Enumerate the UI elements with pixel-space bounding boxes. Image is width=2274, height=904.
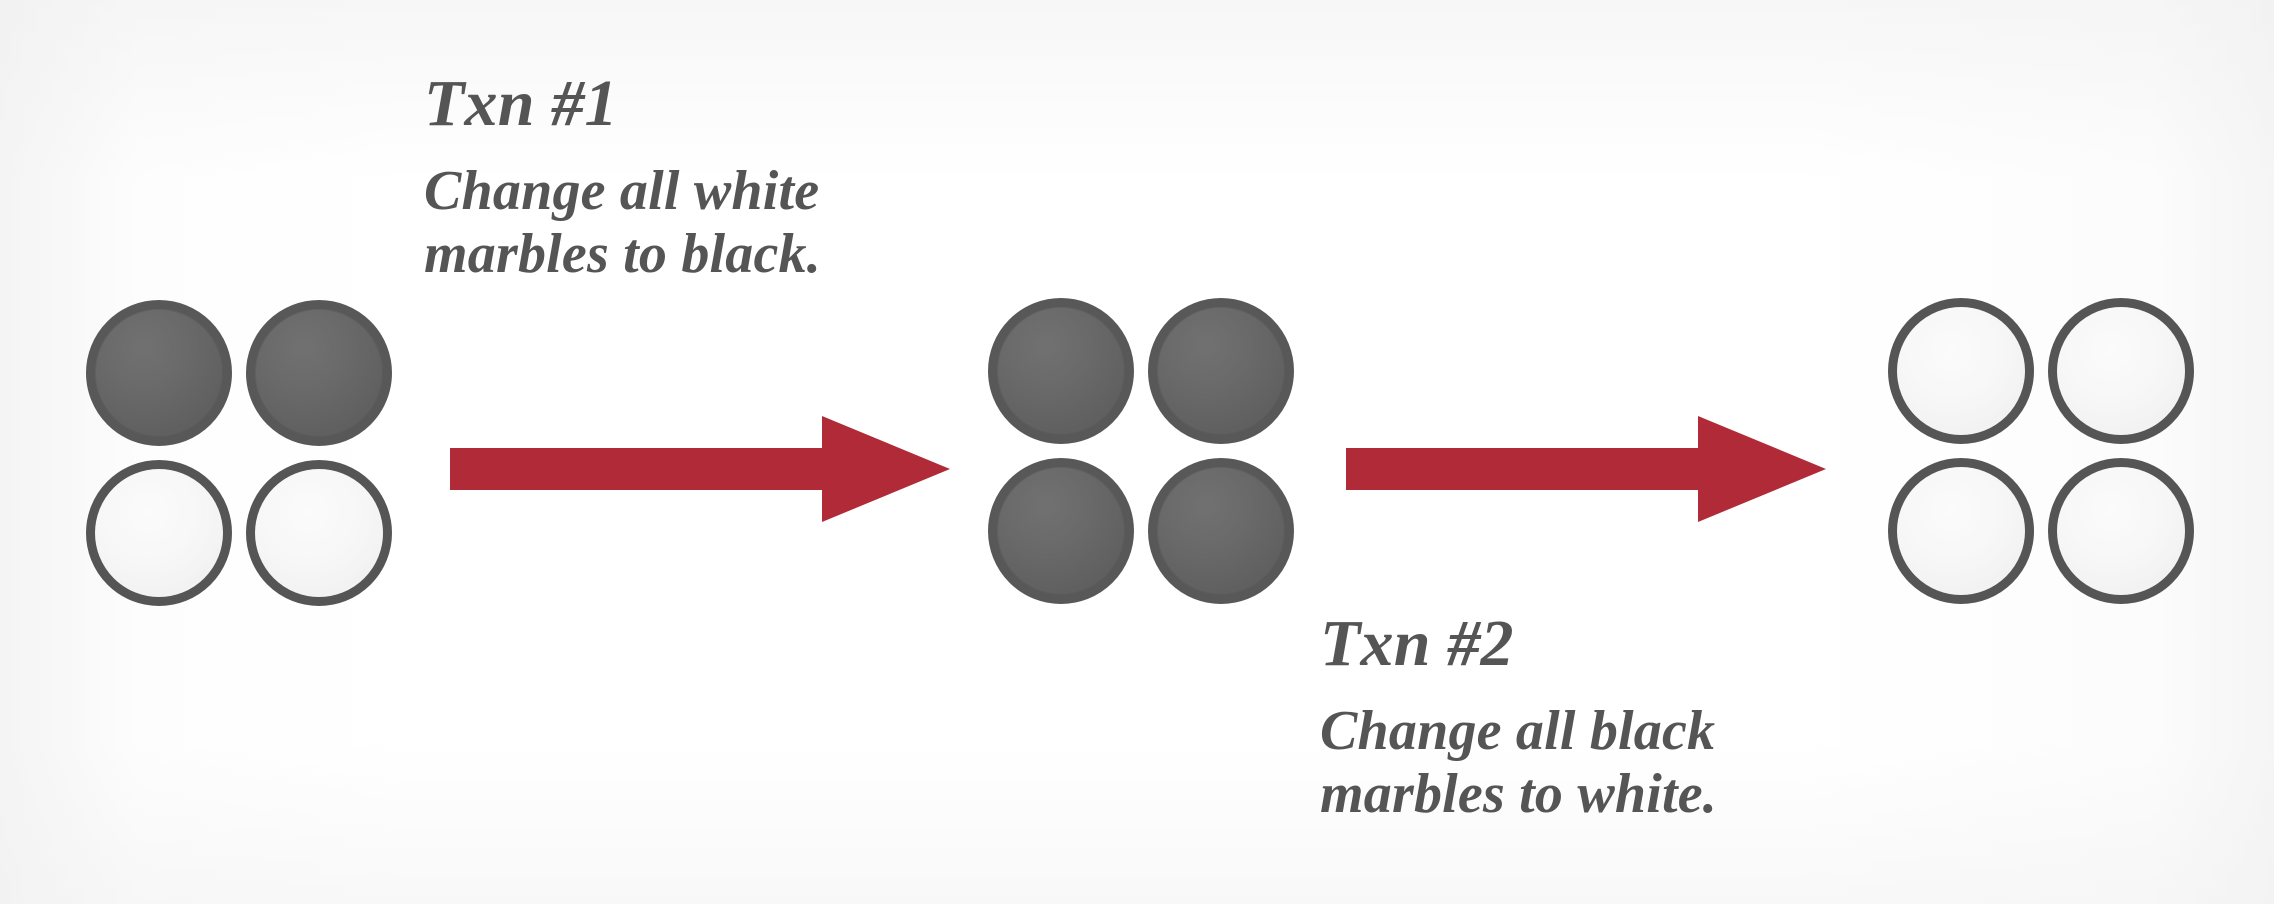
marble-after-txn1-3 xyxy=(988,458,1134,604)
marble-group-after-txn2 xyxy=(1888,298,2194,604)
annotation-txn1: Txn #1 Change all white marbles to black… xyxy=(424,52,821,302)
annotation-txn1-body: Change all white marbles to black. xyxy=(424,160,821,285)
marble-after-txn1-2 xyxy=(1148,298,1294,444)
marble-group-initial xyxy=(86,300,392,606)
marble-after-txn2-2 xyxy=(2048,298,2194,444)
marble-initial-4 xyxy=(246,460,392,606)
marble-initial-1 xyxy=(86,300,232,446)
marble-after-txn1-1 xyxy=(988,298,1134,444)
arrow-txn1 xyxy=(450,410,950,528)
marble-group-after-txn1 xyxy=(988,298,1294,604)
arrow-txn2 xyxy=(1346,410,1826,528)
marble-initial-3 xyxy=(86,460,232,606)
annotation-txn2-title: Txn #2 xyxy=(1320,609,1717,679)
marble-after-txn2-1 xyxy=(1888,298,2034,444)
annotation-txn2-body: Change all black marbles to white. xyxy=(1320,700,1717,825)
marble-after-txn2-3 xyxy=(1888,458,2034,604)
annotation-txn2: Txn #2 Change all black marbles to white… xyxy=(1320,592,1717,842)
marble-initial-2 xyxy=(246,300,392,446)
marble-after-txn1-4 xyxy=(1148,458,1294,604)
marble-after-txn2-4 xyxy=(2048,458,2194,604)
diagram-canvas: Txn #1 Change all white marbles to black… xyxy=(0,0,2274,904)
annotation-txn1-title: Txn #1 xyxy=(424,69,821,139)
